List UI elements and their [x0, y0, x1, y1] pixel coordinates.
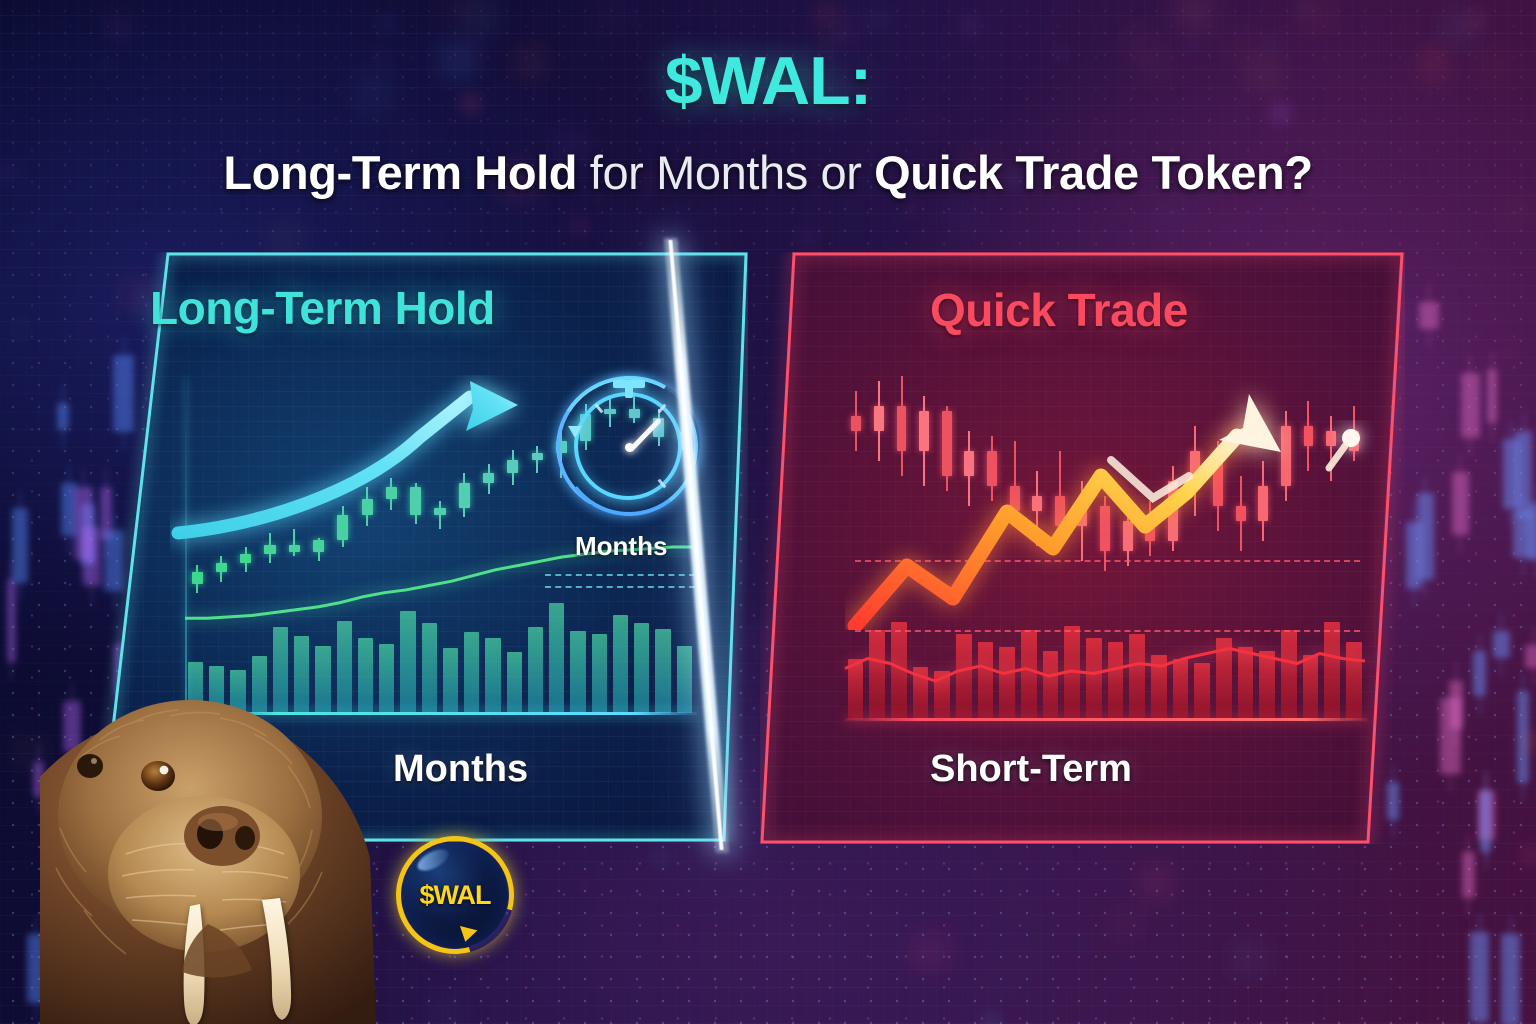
- months-inline-label: Months: [575, 531, 667, 562]
- background-candle: [1487, 369, 1496, 423]
- background-candle: [1513, 512, 1534, 558]
- background-candle: [1450, 681, 1463, 729]
- background-candle: [12, 508, 29, 583]
- coin-label: $WAL: [396, 836, 514, 954]
- background-candle: [1525, 645, 1536, 669]
- background-candle: [7, 579, 16, 661]
- panel-left-title: Long-Term Hold: [150, 281, 495, 335]
- background-candle: [1406, 522, 1422, 589]
- poster-canvas: $WAL: Long-Term Hold for Months or Quick…: [0, 0, 1536, 1024]
- background-candle: [104, 530, 123, 591]
- subtitle-bold-quick-trade: Quick Trade Token?: [874, 146, 1313, 199]
- background-candle: [1419, 302, 1438, 328]
- level-line: [545, 574, 695, 576]
- zigzag-arrow-icon: [845, 380, 1325, 630]
- background-candle: [1501, 934, 1520, 1024]
- background-candle: [1473, 651, 1486, 696]
- page-subtitle: Long-Term Hold for Months or Quick Trade…: [0, 145, 1536, 200]
- background-candle: [1480, 790, 1491, 852]
- walrus-mascot: [40, 648, 380, 1024]
- background-candle: [1461, 373, 1480, 439]
- spark-icon: [1315, 420, 1375, 480]
- page-title: $WAL:: [0, 42, 1536, 120]
- subtitle-bold-long-term: Long-Term Hold: [223, 146, 577, 199]
- background-candle: [1493, 631, 1510, 658]
- background-candle: [1517, 691, 1529, 783]
- level-line: [855, 630, 1360, 632]
- right-chart-x-axis: [845, 718, 1367, 721]
- background-candle: [1462, 852, 1475, 897]
- panel-right-title: Quick Trade: [930, 283, 1188, 337]
- background-candle: [83, 527, 101, 586]
- background-candle: [57, 403, 69, 429]
- background-candle: [1387, 782, 1400, 820]
- rising-arrow-icon: [170, 375, 590, 555]
- background-candle: [1503, 439, 1521, 509]
- level-line: [545, 586, 695, 588]
- swal-coin-icon[interactable]: $WAL: [396, 836, 514, 954]
- subtitle-regular-connector: for Months or: [577, 146, 874, 199]
- panel-left-footer: Months: [393, 748, 528, 791]
- background-candle: [113, 355, 134, 431]
- panel-right-footer: Short-Term: [930, 748, 1132, 791]
- background-candle: [1452, 472, 1469, 535]
- stopwatch-icon: [564, 382, 694, 512]
- background-candle: [1470, 932, 1489, 1022]
